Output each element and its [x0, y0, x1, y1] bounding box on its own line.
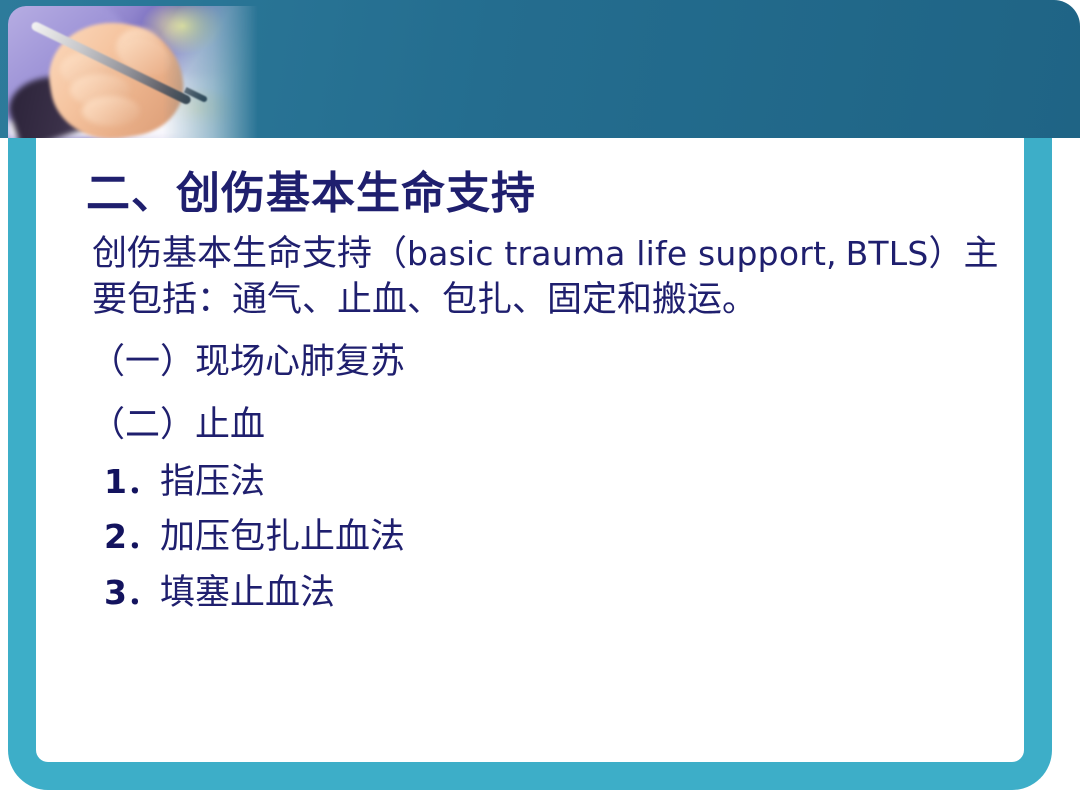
list-item-marker: 1． [104, 461, 160, 504]
list-item-label: 填塞止血法 [160, 570, 335, 616]
numbered-list: 1． 指压法 2． 加压包扎止血法 3． 填塞止血法 [48, 459, 1032, 616]
list-item-label: 加压包扎止血法 [160, 514, 405, 560]
sub-item-cpr: （一）现场心肺复苏 [90, 339, 1032, 386]
paragraph-part-latin-2: BTLS [846, 234, 929, 273]
list-item: 1． 指压法 [104, 459, 1032, 505]
hand-writing-photo [8, 6, 258, 138]
slide-content: 二、创伤基本生命支持 创伤基本生命支持（basic trauma life su… [48, 150, 1032, 750]
photo-knuckle [82, 96, 140, 126]
intro-paragraph: 创伤基本生命支持（basic trauma life support, BTLS… [92, 231, 1012, 323]
list-item: 2． 加压包扎止血法 [104, 514, 1032, 560]
paragraph-part-cn-3: 运。 [687, 280, 757, 319]
list-item-marker: 2． [104, 516, 160, 559]
list-item: 3． 填塞止血法 [104, 570, 1032, 616]
frame-accent-left [8, 132, 36, 172]
list-item-marker: 3． [104, 572, 160, 615]
paragraph-part-cn-1: 创伤基本生命支持（ [92, 234, 407, 273]
paragraph-part-latin-1: basic trauma life support, [407, 234, 837, 273]
slide-header-banner [0, 0, 1080, 138]
presentation-slide: 二、创伤基本生命支持 创伤基本生命支持（basic trauma life su… [0, 0, 1080, 810]
list-item-label: 指压法 [160, 459, 265, 505]
sub-item-hemostasis: （二）止血 [90, 402, 1032, 449]
page-title: 二、创伤基本生命支持 [86, 168, 1032, 221]
